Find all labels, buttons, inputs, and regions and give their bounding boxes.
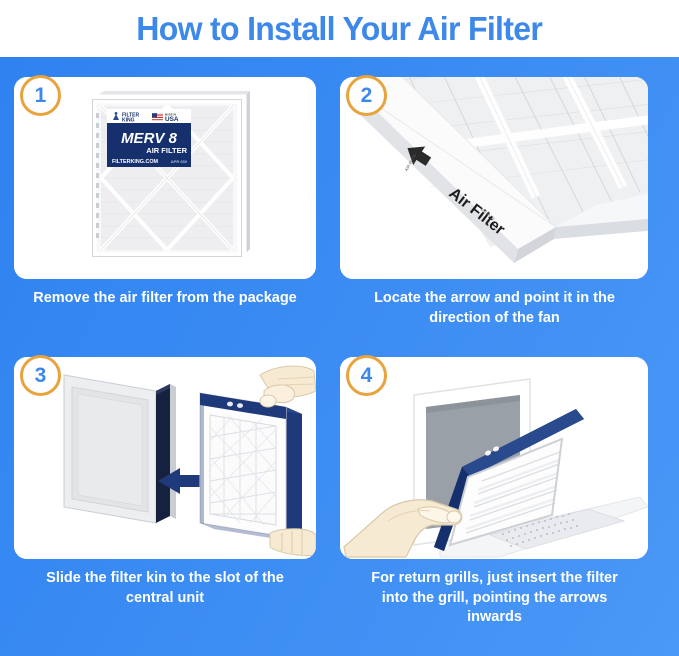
- step-4-caption-line-3: inwards: [350, 608, 639, 628]
- svg-text:USA: USA: [165, 116, 179, 123]
- step-3-caption: Slide the filter kin to the slot of the …: [0, 569, 330, 608]
- step-3-caption-line-1: Slide the filter kin to the slot of the: [20, 569, 310, 589]
- step-1: FILTER KING MADE IN US: [0, 57, 330, 345]
- step-3-illustration: [14, 357, 316, 559]
- step-2-caption: Locate the arrow and point it in the dir…: [330, 289, 659, 328]
- svg-text:AIR FILTER: AIR FILTER: [146, 146, 187, 155]
- step-3-caption-line-2: central unit: [20, 589, 310, 609]
- step-2: AIR FLOW Air Filter MERV 8 2 Locate the …: [330, 57, 659, 345]
- step-4-badge: 4: [346, 355, 387, 396]
- step-1-caption: Remove the air filter from the package: [0, 289, 330, 309]
- step-3: 3 Slide the filter kin to the slot of th…: [0, 345, 330, 656]
- svg-text:FILTERKING.COM: FILTERKING.COM: [112, 159, 159, 165]
- header: How to Install Your Air Filter: [0, 0, 679, 57]
- steps-grid: FILTER KING MADE IN US: [0, 57, 679, 656]
- step-4-caption-line-1: For return grills, just insert the filte…: [350, 569, 639, 589]
- step-2-caption-line-1: Locate the arrow and point it in the: [350, 289, 639, 309]
- infographic-page: How to Install Your Air Filter: [0, 0, 679, 656]
- step-4: 4 For return grills, just insert the fil…: [330, 345, 659, 656]
- svg-text:MERV 8: MERV 8: [121, 130, 178, 147]
- step-4-caption: For return grills, just insert the filte…: [330, 569, 659, 628]
- step-2-illustration: AIR FLOW Air Filter MERV 8: [340, 77, 648, 279]
- step-2-caption-line-2: direction of the fan: [350, 309, 639, 329]
- step-1-badge: 1: [20, 75, 61, 116]
- page-title: How to Install Your Air Filter: [137, 10, 543, 48]
- step-4-caption-line-2: into the grill, pointing the arrows: [350, 589, 639, 609]
- step-3-card: [14, 357, 316, 559]
- step-1-illustration: FILTER KING MADE IN US: [14, 77, 316, 279]
- step-4-illustration: [340, 357, 648, 559]
- step-2-card: AIR FLOW Air Filter MERV 8: [340, 77, 648, 279]
- svg-text:KING: KING: [122, 117, 135, 123]
- step-4-card: [340, 357, 648, 559]
- step-3-badge: 3: [20, 355, 61, 396]
- step-1-card: FILTER KING MADE IN US: [14, 77, 316, 279]
- svg-text:APR 650: APR 650: [171, 159, 188, 164]
- step-2-badge: 2: [346, 75, 387, 116]
